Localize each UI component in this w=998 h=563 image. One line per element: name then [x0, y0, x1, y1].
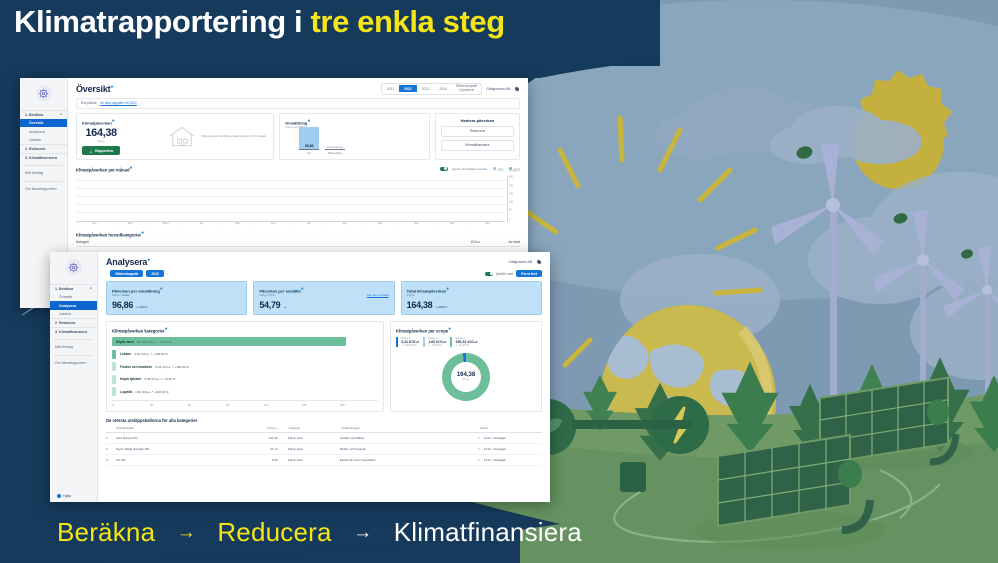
info-dot-icon[interactable]: ● [448, 326, 451, 332]
monthly-bars [76, 176, 505, 221]
sidebar-item-oversikt[interactable]: Översikt [20, 119, 67, 127]
page-title: Klimatrapportering i tre enkla steg [14, 4, 505, 40]
row-index: 1. [106, 436, 116, 440]
col-utslappskalla[interactable]: Utsläppskälla [116, 426, 255, 430]
row-underkategori: Möbler och keramik [340, 447, 478, 451]
title-yellow-part: tre enkla steg [310, 4, 504, 39]
main-analysera: Analysera● Galtgrossen AB ‹ Räkenskapsår… [98, 252, 550, 502]
year-tab-2022[interactable]: 2022 [399, 85, 417, 92]
monthly-chart-title-text: Klimatpåverkan per månad [76, 168, 130, 173]
monthly-chart-title: Klimatpåverkan per månad● [76, 165, 133, 172]
year-tab-2021[interactable]: 2021 [382, 85, 400, 92]
scope-title: Klimatpåverkan per scope● [396, 326, 536, 333]
topbar-analysera: Analysera● Galtgrossen AB [98, 252, 550, 270]
kpi-title: Total klimatpåverkan● [407, 286, 536, 293]
category-name: Fordon och maskiner [120, 365, 152, 369]
sidebar-reducera-label: 2. Reducera [25, 147, 45, 151]
axis-tick: 30 [150, 403, 188, 407]
col-konto[interactable]: Konto [480, 426, 542, 430]
legend-toggle-label: jämför med tidigare perioder [453, 167, 488, 171]
slide-canvas: Klimatrapportering i tre enkla steg 1. B… [0, 0, 998, 563]
analysera-title-text: Analysera [106, 257, 147, 267]
sidebar-divider [24, 165, 63, 166]
compare-label: jämfört med [496, 272, 513, 276]
row-underkategori: Textilier och kläder [340, 436, 478, 440]
info-dot-icon[interactable]: ● [301, 286, 304, 292]
table-row[interactable]: 1. Inter Europe BV 131,32 Köpta varor Te… [106, 433, 542, 444]
info-dot-icon[interactable]: ● [112, 118, 115, 124]
minibar-du: 96,86 Du [299, 127, 319, 156]
category-meta: 157,82 tCO₂e ↘ -70,12 % [137, 340, 171, 344]
sidebar-divider [54, 339, 93, 340]
kpi-card-row: Klimatpåverkan● 164,38 tCO₂e Rapportera [68, 113, 528, 160]
help-icon [57, 494, 61, 498]
step-klimatfinansiera: Klimatfinansiera [394, 517, 582, 547]
category-bar-row[interactable]: Logistik 0,82 tCO₂e ↗ +100,00 % [112, 387, 378, 396]
category-name: Köpta tjänster [120, 377, 141, 381]
row-kategori: Köpta varor [288, 458, 340, 462]
section-huvudkategorier: Klimatpåverkan huvudkategorier● Kategori… [68, 225, 528, 247]
sidebar-item-klimatfinansiera[interactable]: 3. Klimatfinansiera [20, 153, 67, 162]
info-dot-icon[interactable]: ● [110, 84, 113, 90]
row-co2: 5,26 [254, 458, 288, 462]
scope-pct: ↗ +100,00 % [401, 344, 419, 347]
scope-title-text: Klimatpåverkan per scope [396, 329, 448, 334]
minibar-du-value: 96,86 [299, 144, 319, 148]
sidebar-group-berakna[interactable]: 1. Beräkna ^ [50, 284, 97, 293]
scope-chip-list: Scope 1 3,41 tCO₂e ↗ +100,00 % Scope 2 1… [396, 337, 536, 347]
year-tab-rakenskapsar[interactable]: Räkenskapsår Updaterat [452, 84, 482, 94]
axis-tick: 0 [112, 403, 150, 407]
sidebar-item-reducera[interactable]: 2. Reducera [20, 144, 67, 153]
panel-scope: Klimatpåverkan per scope● Scope 1 3,41 t… [390, 321, 542, 411]
table-row[interactable]: 2. Taylor Made Sweden AB 21,17 Köpta var… [106, 444, 542, 455]
info-strip: Ens påbud: Se dina uppgifter för 2022 [76, 98, 520, 109]
topbar-right: Galtgrossen AB [508, 259, 542, 265]
monthly-chart-y-axis: tCO₂e 400320240 160800 [507, 176, 520, 222]
sidebar-item-mitt-foretag[interactable]: Mitt företag [50, 343, 97, 351]
company-label: Galtgrossen AB [508, 260, 532, 264]
category-meta: 5,33 tCO₂e ↗ +100,00 % [134, 352, 167, 356]
section-sources: De största utsläppskällorna för alla kat… [98, 412, 550, 466]
row-source: Inter Europe BV [116, 436, 254, 440]
company-label: Galtgrossen AB [486, 87, 510, 91]
donut-center: 164,38 tCO₂e [442, 353, 490, 401]
sidebar-item-om-klimatrapporten[interactable]: Om klimatrapporten [50, 359, 97, 367]
kpi-delta-up-icon: ▲ [283, 305, 286, 309]
topbar-oversikt: Översikt● 2021 2022 2023 2024 Räkenskaps… [68, 78, 528, 98]
card-omsattning-title: Omsättning● [285, 118, 424, 125]
sidebar-item-analysera[interactable]: Analysera [20, 127, 67, 135]
app-logo-icon [66, 259, 82, 275]
panel-kategorier: Klimatpåverkan kategorier● Köpta varor 1… [106, 321, 384, 411]
row-kategori: Köpta varor [288, 447, 340, 451]
rapportera-button[interactable]: Rapportera [82, 146, 120, 155]
info-dot-icon[interactable]: ● [446, 286, 449, 292]
step-reducera: Reducera [217, 517, 331, 547]
kpi-value: 54,79 ▲ [259, 300, 388, 310]
donut-unit: tCO₂e [463, 378, 470, 381]
row-co2: 21,17 [254, 447, 288, 451]
klimatpaverkan-value: 164,38 [82, 127, 120, 139]
chevron-up-icon: ^ [60, 113, 62, 117]
compare-year-button[interactable]: Förra året [516, 270, 542, 277]
info-dot-icon[interactable]: ● [307, 118, 310, 124]
pill-year[interactable]: 2022 [146, 270, 164, 277]
row-source: Taylor Made Sweden AB [116, 447, 254, 451]
oversikt-title: Översikt● [76, 84, 113, 94]
kpi-paverkan-per-anstalld: Påverkan per anställd● tCO₂e / FTE Läs m… [253, 281, 394, 315]
monthly-chart-area: tCO₂e 400320240 160800 [76, 176, 520, 222]
row-konto: 1410 - Varulager [480, 458, 542, 462]
sidebar-item-justera[interactable]: Justera [50, 310, 97, 318]
sidebar-group-label: 1. Beräkna [25, 113, 43, 117]
hantera-klimatfinansiera-button[interactable]: Klimatfinansiera [441, 140, 514, 151]
kpi-sub: tCO₂e / FTE Läs mer om detta [259, 293, 388, 297]
monthly-chart-plot [76, 176, 505, 222]
minibar-branschen: Data saknas Branschen [325, 127, 345, 156]
chevron-up-icon: ^ [90, 287, 92, 291]
sidebar-item-mitt-foretag[interactable]: Mitt företag [20, 169, 67, 177]
note-text: Motsvarar att hushåll energianvändning i… [202, 134, 267, 138]
title-white-part: Klimatrapportering i [14, 4, 310, 39]
minibar-branschen-value: Data saknas [327, 145, 343, 149]
legend-2021[interactable]: 2021 [493, 167, 504, 172]
kpi-sub: tCO₂e / MSEK [112, 293, 241, 297]
rapportera-label: Rapportera [95, 149, 113, 153]
app-window-analysera[interactable]: 1. Beräkna ^ Översikt Analysera Justera … [50, 252, 550, 502]
compare-controls: jämfört med Förra året [485, 270, 542, 277]
axis-tick: 120 [264, 403, 302, 407]
scope-pct: ↘ -61,00 % [455, 344, 477, 347]
sidebar-item-hjalp[interactable]: Hjälp [50, 494, 97, 498]
pill-rakenskapsar[interactable]: Räkenskapsår [110, 270, 143, 277]
card-klimatpaverkan-title: Klimatpåverkan● [82, 118, 120, 125]
analysera-title: Analysera● [106, 257, 150, 267]
category-meta: 0,82 tCO₂e ↗ +100,00 % [135, 390, 168, 394]
axis-tick: 180 [340, 403, 378, 407]
axis-tick: 150 [302, 403, 340, 407]
kpi-value-text: 96,86 [112, 300, 133, 310]
info-dot-icon[interactable]: ● [147, 257, 150, 263]
table-row[interactable]: 3. PC AB 5,26 Köpta varor Elektronik och… [106, 455, 542, 466]
sidebar-group-label: 1. Beräkna [55, 287, 73, 291]
hantera-reducera-button[interactable]: Reducera [441, 126, 514, 137]
col-underkategori[interactable]: Underkategori [341, 426, 480, 430]
row-source: PC AB [116, 458, 254, 462]
kpi-total-klimatpaverkan: Total klimatpåverkan● tCO₂e 164,38↘ -60,… [401, 281, 542, 315]
sidebar-item-analysera[interactable]: Analysera [50, 301, 97, 309]
row-konto: 1410 - Varulager [480, 447, 542, 451]
klimatpaverkan-unit: tCO₂e [82, 139, 120, 143]
card-hantera-title: Hantera påverkan [441, 118, 514, 123]
kategorier-title-text: Klimatpåverkan kategorier [112, 329, 165, 334]
category-bar-row[interactable]: Köpta varor 157,82 tCO₂e ↘ -70,12 % [112, 337, 378, 346]
category-bar-row[interactable]: Köpta tjänster 0,38 tCO₂e ↘ -74,35 % [112, 375, 378, 384]
col-av-total[interactable]: Av total [480, 240, 520, 244]
sidebar-analysera[interactable]: 1. Beräkna ^ Översikt Analysera Justera … [50, 252, 98, 502]
sidebar-divider-2 [24, 181, 63, 182]
kpi-delta: ↘ -60,00 % [435, 305, 446, 309]
scope-pct: ↘ -19,00 % [428, 344, 446, 347]
sidebar-klimatfinansiera-label: 3. Klimatfinansiera [55, 330, 87, 334]
sidebar-klimatfinansiera-label: 3. Klimatfinansiera [25, 156, 57, 160]
omsattning-comparison-chart: 96,86 Du Data saknas Branschen [285, 129, 424, 155]
col-kategori[interactable]: Kategori [76, 240, 440, 244]
monthly-chart-x-axis: JanFebMarsAprMajJuni JuliAugSepOktNovDec [76, 222, 520, 225]
kpi-row: Påverkan per omsättning● tCO₂e / MSEK 96… [98, 281, 550, 315]
sources-title: De största utsläppskällorna för alla kat… [106, 418, 542, 423]
step-arrow-icon-2: → [339, 522, 386, 543]
kpi-value-text: 54,79 [259, 300, 280, 310]
info-strip-link[interactable]: Se dina uppgifter för 2022 [100, 101, 137, 105]
analysera-panels: Klimatpåverkan kategorier● Köpta varor 1… [98, 315, 550, 411]
col-tco2e[interactable]: tCO₂e ⌄ [255, 426, 289, 430]
kpi-value: 164,38↘ -60,00 % [407, 300, 536, 310]
klimatpaverkan-note: Motsvarar att hushåll energianvändning i… [202, 135, 267, 139]
download-icon [89, 149, 93, 153]
sidebar-item-klimatfinansiera[interactable]: 3. Klimatfinansiera [50, 327, 97, 336]
huvudkategorier-header: Kategori tCO₂e Av total [76, 237, 520, 247]
info-strip-text: Ens påbud: [81, 101, 97, 105]
minibar-du-bar: 96,86 [299, 127, 319, 149]
kpi-title: Påverkan per omsättning● [112, 286, 241, 293]
compare-toggle[interactable] [485, 272, 493, 276]
huvudkategorier-title-text: Klimatpåverkan huvudkategorier [76, 232, 141, 237]
col-tco2e[interactable]: tCO₂e [440, 240, 480, 244]
y-axis-unit: tCO₂e [509, 169, 516, 172]
step-arrow-icon: → [163, 522, 210, 543]
scope-donut-chart: 164,38 tCO₂e [442, 353, 490, 401]
minibar-branschen-bar: Data saknas [325, 127, 345, 149]
sidebar-item-om-klimatrapporten[interactable]: Om klimatrapporten [20, 185, 67, 193]
category-meta: 0,38 tCO₂e ↘ -74,35 % [144, 377, 175, 381]
sidebar-item-justera[interactable]: Justera [20, 136, 67, 144]
monthly-chart-legend: jämför med tidigare perioder 2021 2022 [440, 167, 520, 172]
kpi-title: Påverkan per anställd● [259, 286, 388, 293]
monthly-chart-head: Klimatpåverkan per månad● jämför med tid… [76, 165, 520, 172]
chevron-left-icon[interactable]: ‹ [106, 271, 107, 276]
category-axis: 0 30 60 90 120 150 180 [112, 400, 378, 407]
row-kategori: Köpta varor [288, 436, 340, 440]
scope-chip-3: Scope 3 159,32 tCO₂e ↘ -61,00 % [450, 337, 477, 347]
kpi-delta: ↘ -12,11 % [136, 305, 147, 309]
info-dot-icon[interactable]: ● [130, 165, 133, 171]
chevron-right-icon[interactable]: › [167, 271, 168, 276]
sidebar-item-oversikt[interactable]: Översikt [50, 293, 97, 301]
scope-chip-1: Scope 1 3,41 tCO₂e ↗ +100,00 % [396, 337, 419, 347]
kpi-sub: tCO₂e [407, 293, 536, 297]
minibar-branschen-label: Branschen [325, 151, 345, 155]
steps-footer: Beräkna → Reducera → Klimatfinansiera [57, 517, 582, 548]
gear-icon[interactable] [536, 259, 542, 265]
info-dot-icon[interactable]: ● [160, 286, 163, 292]
kpi-value-text: 164,38 [407, 300, 433, 310]
category-name: Lokaler [120, 352, 131, 356]
kpi-value: 96,86↘ -12,11 % [112, 300, 241, 310]
card-klimatpaverkan: Klimatpåverkan● 164,38 tCO₂e Rapportera [76, 113, 274, 160]
sidebar-group-berakna[interactable]: 1. Beräkna ^ [20, 110, 67, 119]
kpi-link[interactable]: Läs mer om detta [367, 293, 389, 297]
topbar-right: 2021 2022 2023 2024 Räkenskapsår Updater… [381, 83, 520, 95]
card-hantera-paverkan: Hantera påverkan Reducera Klimatfinansie… [435, 113, 520, 160]
huvudkategorier-title: Klimatpåverkan huvudkategorier● [76, 230, 520, 237]
sidebar-divider-2 [54, 355, 93, 356]
year-tab-2024[interactable]: 2024 [434, 85, 452, 92]
year-tab-2023[interactable]: 2023 [417, 85, 435, 92]
row-konto: 1410 - Varulager [480, 436, 542, 440]
sidebar-item-reducera[interactable]: 2. Reducera [50, 318, 97, 327]
row-index: 3. [106, 458, 116, 462]
section-monthly-chart: Klimatpåverkan per månad● jämför med tid… [68, 160, 528, 224]
app-logo-icon [36, 85, 52, 101]
sidebar-reducera-label: 2. Reducera [55, 321, 75, 325]
category-meta: 0,01 tCO₂e ↗ +100,00 % [155, 365, 188, 369]
category-bar-row[interactable]: Fordon och maskiner 0,01 tCO₂e ↗ +100,00… [112, 362, 378, 371]
category-bar-row[interactable]: Lokaler 5,33 tCO₂e ↗ +100,00 % [112, 350, 378, 359]
gear-icon[interactable] [514, 86, 520, 92]
scope-chip-2: Scope 2 1,66 tCO₂e ↘ -19,00 % [423, 337, 446, 347]
axis-tick: 90 [226, 403, 264, 407]
info-dot-icon[interactable]: ● [141, 230, 144, 236]
house-icon [165, 123, 199, 149]
category-name: Köpta varor [116, 340, 134, 344]
compare-toggle[interactable] [440, 167, 448, 171]
step-berakna: Beräkna [57, 517, 155, 547]
minibar-du-label: Du [299, 151, 319, 155]
year-tab-group[interactable]: 2021 2022 2023 2024 Räkenskapsår Updater… [381, 83, 483, 95]
sources-table-header: Utsläppskälla tCO₂e ⌄ Kategori Underkate… [106, 426, 542, 433]
row-index: 2. [106, 447, 116, 451]
category-name: Logistik [120, 390, 132, 394]
kpi-paverkan-per-omsattning: Påverkan per omsättning● tCO₂e / MSEK 96… [106, 281, 247, 315]
hjalp-label: Hjälp [63, 494, 71, 498]
card-omsattning: Omsättning● tCO₂e per MSEK 96,86 Du [279, 113, 430, 160]
row-co2: 131,32 [254, 436, 288, 440]
filter-pill-row: ‹ Räkenskapsår 2022 › jämfört med Förra … [98, 270, 550, 281]
kpi-sub-text: tCO₂e / FTE [259, 293, 274, 297]
col-kategori[interactable]: Kategori [289, 426, 341, 430]
axis-tick: 60 [188, 403, 226, 407]
oversikt-title-text: Översikt [76, 84, 110, 94]
card-title-text: Klimatpåverkan [82, 120, 112, 125]
kategorier-title: Klimatpåverkan kategorier● [112, 326, 378, 333]
info-dot-icon[interactable]: ● [165, 326, 168, 332]
row-underkategori: Elektronik och IT-produkter [340, 458, 478, 462]
